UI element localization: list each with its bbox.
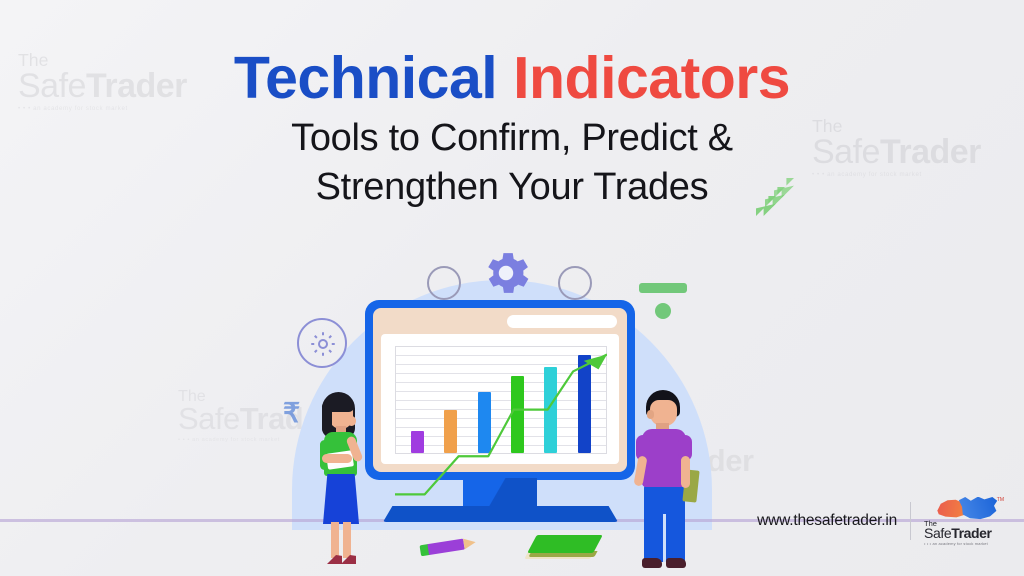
title-word-indicators: Indicators: [513, 45, 790, 111]
bar-chart: [395, 346, 607, 454]
watermark-safe: Safe: [178, 401, 240, 436]
trend-arrow-icon: [395, 346, 607, 558]
arrow-head: [584, 354, 607, 369]
page-title: Technical Indicators: [0, 44, 1024, 112]
leg-left: [331, 522, 339, 558]
shoe-right: [666, 558, 686, 568]
circle-outline-left: [427, 266, 461, 300]
book-cover: [527, 535, 603, 553]
rupee-icon: ₹: [283, 398, 300, 429]
leg-right: [343, 522, 351, 558]
forearm: [322, 454, 352, 463]
hand: [347, 416, 356, 426]
logo-name: SafeTrader: [924, 526, 992, 540]
subtitle-line-2: Strengthen Your Trades: [0, 163, 1024, 212]
divider: [910, 502, 911, 540]
gear-outline-icon: [297, 318, 347, 368]
chevron-icon: [774, 178, 794, 198]
arm-right: [681, 456, 690, 488]
search-input[interactable]: [507, 315, 617, 328]
monitor: [365, 300, 635, 480]
logo-safe: Safe: [924, 525, 951, 541]
green-dot: [655, 303, 671, 319]
monitor-neck: [463, 478, 537, 508]
green-book-icon: [528, 535, 598, 561]
bull-icon: [958, 497, 998, 520]
circle-outline-right: [558, 266, 592, 300]
title-word-technical: Technical: [234, 45, 497, 111]
monitor-base: [383, 506, 618, 522]
trademark-mark: TM: [997, 497, 1004, 503]
footer-logo: TM The SafeTrader • • • an academy for s…: [924, 497, 1008, 546]
logo-trader: Trader: [951, 525, 991, 541]
pencil-tip: [463, 537, 477, 550]
woman-with-book: [305, 392, 375, 570]
trend-line: [395, 354, 607, 494]
growth-chevrons-icon: [756, 178, 800, 222]
green-bar: [639, 283, 687, 293]
page-subtitle: Tools to Confirm, Predict & Strengthen Y…: [0, 114, 1024, 211]
man-with-book: [626, 390, 704, 572]
website-url[interactable]: www.thesafetrader.in: [757, 512, 897, 530]
monitor-screen: [381, 334, 619, 464]
logo-tagline: • • • an academy for stock market: [924, 542, 992, 546]
poster-canvas: The SafeTrader • • • an academy for stoc…: [0, 0, 1024, 576]
ear: [647, 410, 654, 419]
hair-side: [322, 402, 332, 434]
footer: www.thesafetrader.in TM The SafeTrader •…: [757, 497, 1008, 546]
gear-icon: [478, 245, 534, 301]
monitor-bezel: [373, 308, 627, 472]
subtitle-line-1: Tools to Confirm, Predict &: [0, 114, 1024, 163]
blue-skirt: [323, 474, 359, 524]
shoe-left: [642, 558, 662, 568]
leg-gap: [663, 514, 666, 562]
